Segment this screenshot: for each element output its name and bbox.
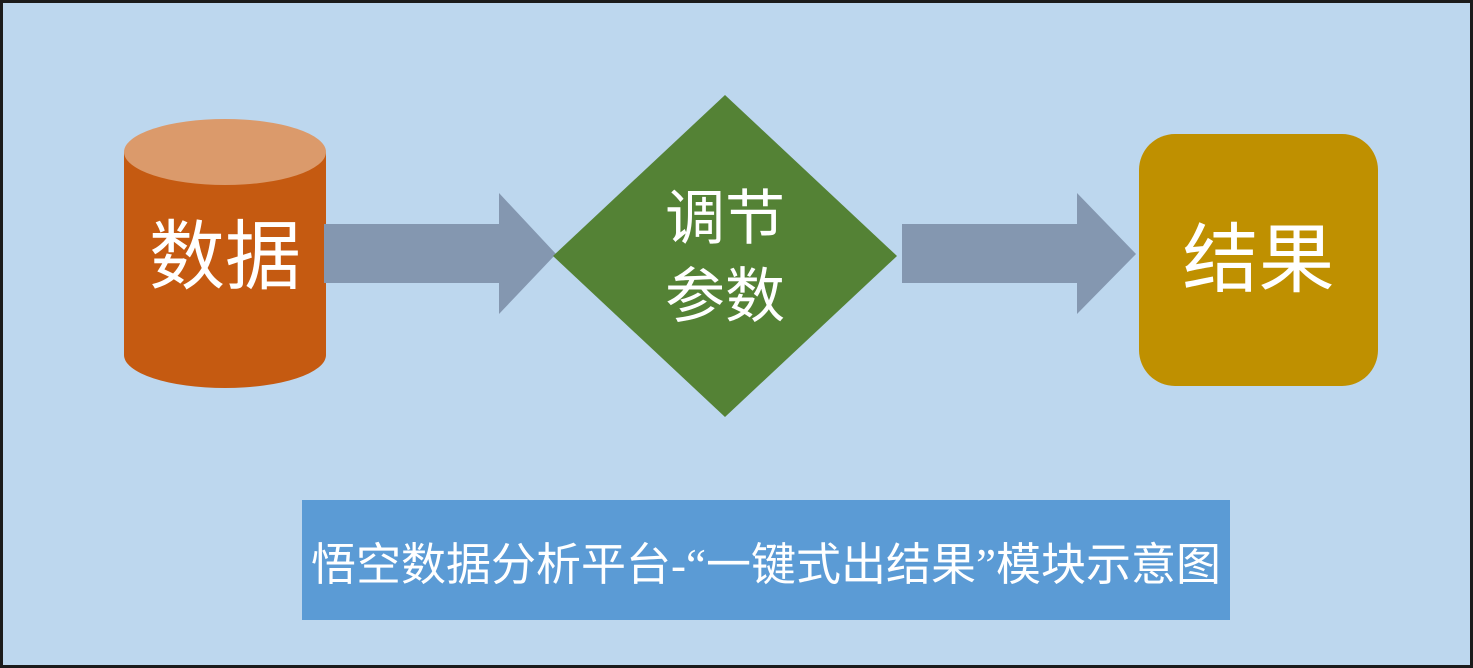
node-datastore-cylinder[interactable] — [124, 119, 326, 388]
caption-text: 悟空数据分析平台-“一键式出结果”模块示意图 — [311, 528, 1221, 593]
cylinder-body — [124, 152, 326, 388]
arrow-datastore-to-tuning — [324, 193, 556, 314]
node-result-rounded-rect[interactable] — [1139, 134, 1378, 386]
node-tuning-diamond[interactable] — [553, 95, 897, 417]
caption-banner: 悟空数据分析平台-“一键式出结果”模块示意图 — [302, 500, 1230, 620]
diagram-canvas: 数据 调节 参数 结果 悟空数据分析平台-“一键式出结果”模块示意图 — [0, 0, 1473, 668]
cylinder-top-ellipse — [124, 119, 326, 185]
arrow-tuning-to-result — [902, 193, 1136, 314]
